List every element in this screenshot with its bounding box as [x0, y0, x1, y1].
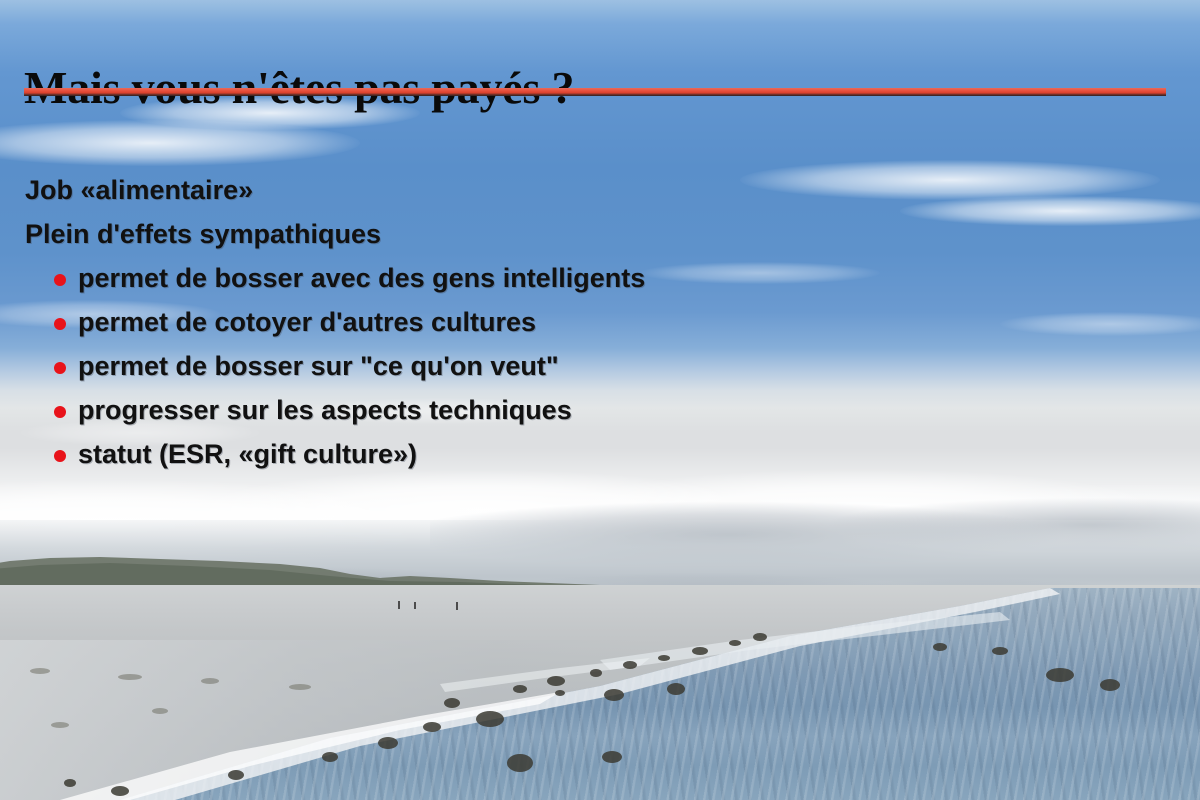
- list-item: permet de bosser avec des gens intellige…: [54, 256, 1200, 300]
- list-item: progresser sur les aspects techniques: [54, 388, 1200, 432]
- bullet-list: permet de bosser avec des gens intellige…: [0, 256, 1200, 476]
- presentation-slide: Mais vous n'êtes pas payés ? Job «alimen…: [0, 0, 1200, 800]
- list-item-label: permet de bosser sur "ce qu'on veut": [78, 351, 559, 381]
- list-item-label: permet de bosser avec des gens intellige…: [78, 263, 645, 293]
- bullet-dot-icon: [54, 274, 66, 286]
- shoreline-debris: [0, 585, 1200, 800]
- list-item-label: progresser sur les aspects techniques: [78, 395, 572, 425]
- body-line-1: Job «alimentaire»: [25, 168, 1200, 212]
- slide-body: Job «alimentaire» Plein d'effets sympath…: [0, 168, 1200, 476]
- list-item-label: permet de cotoyer d'autres cultures: [78, 307, 536, 337]
- list-item: permet de bosser sur "ce qu'on veut": [54, 344, 1200, 388]
- bullet-dot-icon: [54, 406, 66, 418]
- list-item-label: statut (ESR, «gift culture»): [78, 439, 417, 469]
- bullet-dot-icon: [54, 362, 66, 374]
- bullet-dot-icon: [54, 450, 66, 462]
- bullet-dot-icon: [54, 318, 66, 330]
- list-item: statut (ESR, «gift culture»): [54, 432, 1200, 476]
- list-item: permet de cotoyer d'autres cultures: [54, 300, 1200, 344]
- body-line-2: Plein d'effets sympathiques: [25, 212, 1200, 256]
- distant-people: [380, 596, 500, 616]
- title-underline-rule: [24, 88, 1166, 96]
